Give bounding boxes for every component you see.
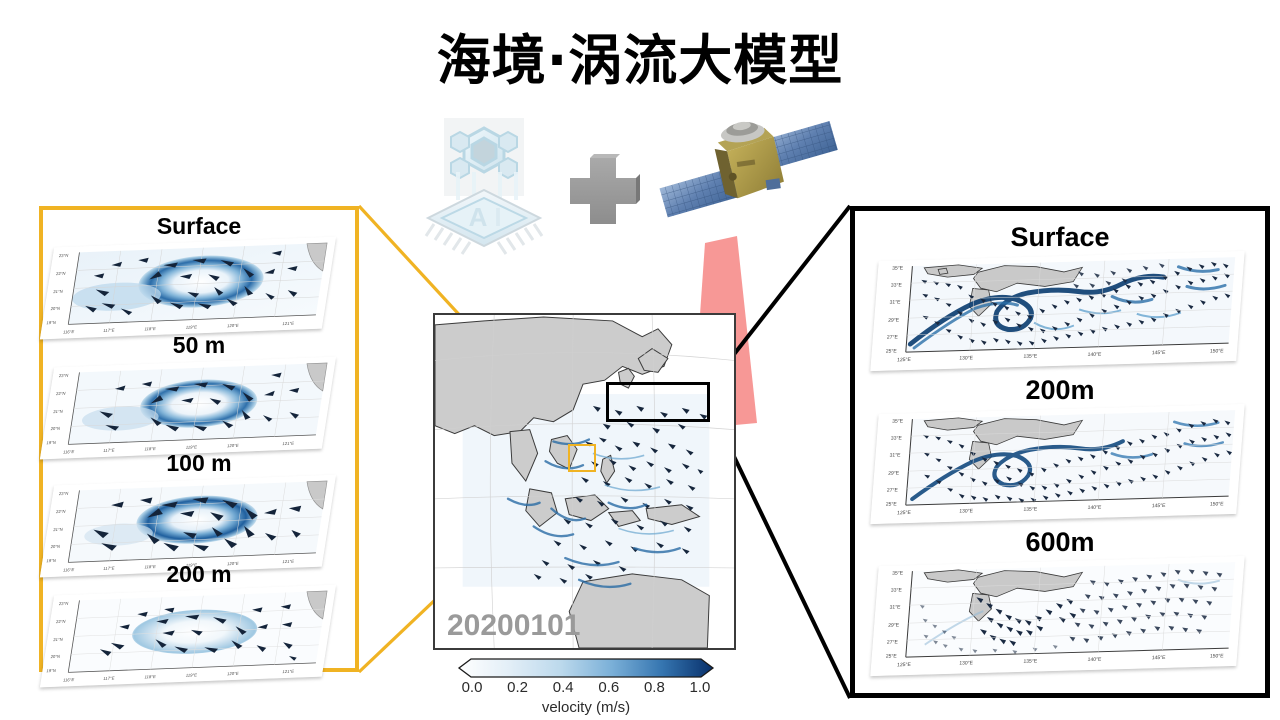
slide-canvas: 海境·涡流大模型 — [0, 0, 1280, 720]
svg-text:121°E: 121°E — [282, 441, 294, 446]
svg-text:120°E: 120°E — [227, 443, 239, 448]
south-china-sea-roi-box[interactable] — [568, 444, 596, 472]
svg-text:21°N: 21°N — [53, 289, 63, 294]
svg-text:35°E: 35°E — [892, 265, 904, 271]
svg-text:29°E: 29°E — [888, 622, 900, 628]
center-overview-map[interactable] — [433, 313, 736, 650]
svg-text:33°E: 33°E — [891, 282, 903, 288]
svg-text:25°E: 25°E — [886, 653, 898, 659]
right-depth-label-surface: Surface — [850, 222, 1270, 253]
svg-text:125°E: 125°E — [897, 357, 912, 363]
svg-text:33°E: 33°E — [891, 435, 903, 441]
left-depth-label-50m: 50 m — [39, 332, 359, 359]
svg-text:140°E: 140°E — [1087, 505, 1102, 511]
colorbar-tick-5: 1.0 — [683, 679, 717, 699]
svg-text:31°E: 31°E — [889, 604, 901, 610]
svg-text:25°E: 25°E — [886, 348, 898, 354]
left-depth-label-surface: Surface — [39, 213, 359, 240]
svg-text:21°N: 21°N — [53, 637, 63, 642]
satellite-icon — [652, 108, 842, 258]
svg-text:125°E: 125°E — [897, 510, 912, 516]
svg-text:117°E: 117°E — [103, 676, 115, 681]
svg-text:22°N: 22°N — [56, 271, 66, 276]
right-plot-200m[interactable]: 35°E33°E 31°E29°E 27°E25°E 125°E130°E 13… — [870, 404, 1244, 524]
svg-text:119°E: 119°E — [185, 672, 197, 677]
svg-text:27°E: 27°E — [887, 334, 899, 340]
svg-text:23°N: 23°N — [59, 373, 69, 378]
svg-text:145°E: 145°E — [1152, 503, 1167, 509]
svg-text:121°E: 121°E — [282, 669, 294, 674]
svg-text:19°N: 19°N — [46, 668, 56, 673]
svg-text:20°N: 20°N — [50, 426, 60, 431]
svg-text:21°N: 21°N — [53, 527, 63, 532]
svg-text:130°E: 130°E — [959, 508, 974, 514]
svg-text:135°E: 135°E — [1023, 506, 1038, 512]
svg-text:A: A — [469, 202, 488, 232]
svg-text:22°N: 22°N — [56, 509, 66, 514]
svg-text:118°E: 118°E — [144, 674, 156, 679]
left-depth-label-100m: 100 m — [39, 450, 359, 477]
colorbar-tick-4: 0.8 — [637, 679, 671, 699]
svg-text:19°N: 19°N — [46, 440, 56, 445]
colorbar-title: velocity (m/s) — [455, 699, 717, 716]
svg-text:20°N: 20°N — [50, 306, 60, 311]
svg-text:135°E: 135°E — [1023, 353, 1038, 359]
svg-text:150°E: 150°E — [1210, 501, 1225, 507]
svg-text:130°E: 130°E — [959, 660, 974, 666]
svg-text:33°E: 33°E — [891, 587, 903, 593]
svg-text:150°E: 150°E — [1210, 653, 1225, 659]
svg-text:140°E: 140°E — [1087, 352, 1102, 358]
svg-text:21°N: 21°N — [53, 409, 63, 414]
right-plot-600m[interactable]: 35°E33°E 31°E29°E 27°E25°E 125°E130°E 13… — [870, 556, 1244, 676]
svg-text:27°E: 27°E — [887, 639, 899, 645]
svg-text:23°N: 23°N — [59, 601, 69, 606]
svg-text:20°N: 20°N — [50, 544, 60, 549]
svg-text:145°E: 145°E — [1152, 655, 1167, 661]
svg-text:120°E: 120°E — [227, 671, 239, 676]
svg-text:119°E: 119°E — [185, 324, 197, 329]
svg-text:20°N: 20°N — [50, 654, 60, 659]
svg-text:135°E: 135°E — [1023, 658, 1038, 664]
left-plot-50m[interactable]: 23°N22°N 21°N20°N 19°N 116°E117°E 118°E1… — [40, 357, 336, 460]
svg-text:I: I — [494, 202, 501, 232]
svg-text:29°E: 29°E — [888, 470, 900, 476]
svg-text:130°E: 130°E — [959, 355, 974, 361]
svg-text:145°E: 145°E — [1152, 350, 1167, 356]
svg-text:19°N: 19°N — [46, 320, 56, 325]
svg-text:116°E: 116°E — [63, 677, 75, 682]
svg-text:25°E: 25°E — [886, 501, 898, 507]
svg-text:27°E: 27°E — [887, 487, 899, 493]
right-depth-label-200m: 200m — [850, 375, 1270, 406]
page-title: 海境·涡流大模型 — [0, 33, 1280, 90]
svg-text:31°E: 31°E — [889, 299, 901, 305]
svg-text:31°E: 31°E — [889, 452, 901, 458]
svg-text:35°E: 35°E — [892, 418, 904, 424]
left-plot-surface[interactable]: 23°N22°N 21°N20°N 19°N 116°E117°E 118°E1… — [40, 237, 336, 340]
colorbar-ticks: 0.0 0.2 0.4 0.6 0.8 1.0 — [455, 679, 717, 699]
svg-text:22°N: 22°N — [56, 391, 66, 396]
svg-text:35°E: 35°E — [892, 570, 904, 576]
svg-text:120°E: 120°E — [227, 323, 239, 328]
colorbar-tick-2: 0.4 — [546, 679, 580, 699]
svg-text:23°N: 23°N — [59, 491, 69, 496]
svg-text:140°E: 140°E — [1087, 657, 1102, 663]
kuroshio-roi-box[interactable] — [606, 382, 710, 422]
left-depth-label-200m: 200 m — [39, 561, 359, 588]
colorbar-tick-1: 0.2 — [501, 679, 535, 699]
left-plot-200m[interactable]: 23°N22°N 21°N20°N 19°N 116°E117°E 118°E1… — [40, 585, 336, 688]
velocity-colorbar: 0.0 0.2 0.4 0.6 0.8 1.0 velocity (m/s) — [455, 657, 717, 717]
plus-icon — [558, 146, 648, 236]
colorbar-tick-0: 0.0 — [455, 679, 489, 699]
svg-text:121°E: 121°E — [282, 321, 294, 326]
svg-text:125°E: 125°E — [897, 662, 912, 668]
svg-text:118°E: 118°E — [144, 326, 156, 331]
map-date-label: 20200101 — [447, 609, 580, 643]
svg-text:119°E: 119°E — [185, 444, 197, 449]
icon-row: A I — [400, 108, 860, 263]
colorbar-tick-3: 0.6 — [592, 679, 626, 699]
svg-text:150°E: 150°E — [1210, 348, 1225, 354]
svg-text:22°N: 22°N — [56, 619, 66, 624]
ai-chip-icon: A I — [412, 110, 562, 260]
svg-text:29°E: 29°E — [888, 317, 900, 323]
svg-text:23°N: 23°N — [59, 253, 69, 258]
right-depth-label-600m: 600m — [850, 527, 1270, 558]
right-plot-surface[interactable]: 35°E33°E 31°E29°E 27°E25°E 125°E130°E 13… — [870, 251, 1244, 371]
